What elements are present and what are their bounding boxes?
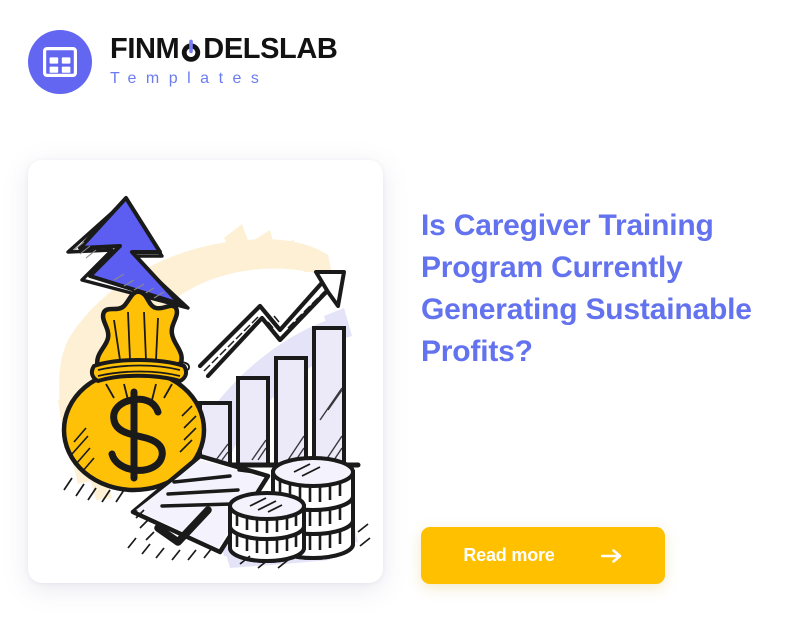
finance-growth-illustration [28,160,383,583]
power-button-icon [179,38,203,62]
grid-window-icon [28,30,92,94]
arrow-right-icon [601,549,623,563]
brand-logo[interactable]: FINM DELSLAB Templates [28,30,337,94]
brand-tagline: Templates [110,71,337,87]
illustration-card [28,160,383,583]
read-more-button[interactable]: Read more [421,527,665,584]
brand-name-part2: DELSLAB [203,35,337,64]
page-title: Is Caregiver Training Program Currently … [421,205,771,373]
brand-name: FINM DELSLAB [110,35,337,64]
brand-name-part1: FINM [110,35,179,64]
brand-text: FINM DELSLAB Templates [110,35,337,89]
read-more-label: Read more [463,545,554,566]
